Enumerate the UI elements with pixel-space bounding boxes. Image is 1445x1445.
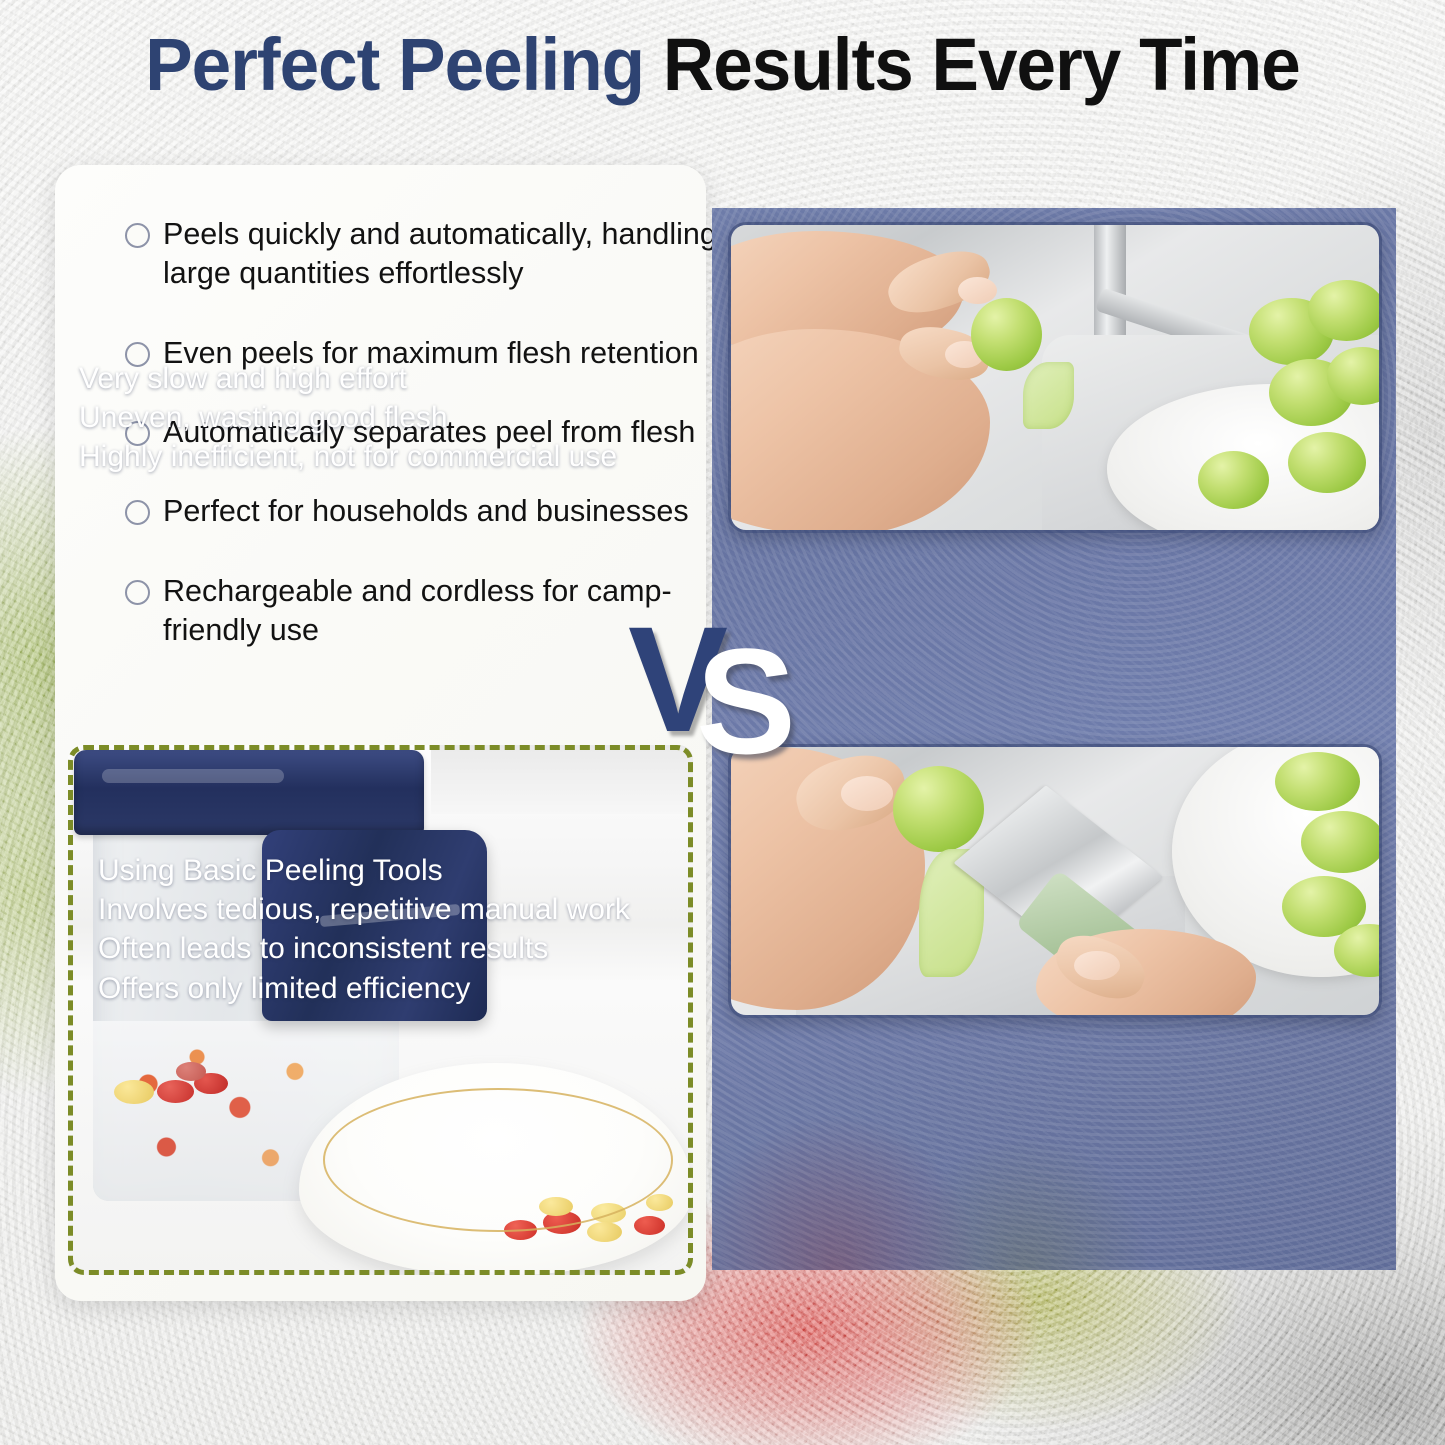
peeled-red-tomato bbox=[157, 1080, 194, 1103]
drawback-line: Often leads to inconsistent results bbox=[98, 930, 630, 967]
benefit-text: Perfect for households and businesses bbox=[163, 492, 689, 531]
circle-bullet-icon bbox=[125, 500, 150, 525]
peeled-red-tomato bbox=[543, 1211, 580, 1233]
basic-tools-drawbacks: Using Basic Peeling Tools Involves tedio… bbox=[98, 852, 630, 1009]
circle-bullet-icon bbox=[125, 580, 150, 605]
peeled-yellow-tomato bbox=[114, 1080, 154, 1104]
grape bbox=[1308, 280, 1382, 341]
drawback-line: Using Basic Peeling Tools bbox=[98, 852, 630, 889]
title-plain-text: Results Every Time bbox=[663, 23, 1300, 106]
peeled-yellow-tomato bbox=[591, 1203, 626, 1223]
drawback-line: Involves tedious, repetitive manual work bbox=[98, 891, 630, 928]
hand-peeling-photo bbox=[728, 222, 1382, 533]
benefit-text: Peels quickly and automatically, handlin… bbox=[163, 215, 741, 294]
title-accent-text: Perfect Peeling bbox=[145, 23, 663, 106]
grape bbox=[1301, 811, 1382, 873]
grape-being-peeled bbox=[971, 298, 1042, 371]
drawback-line: Offers only limited efficiency bbox=[98, 970, 630, 1007]
versus-s-letter: S bbox=[696, 626, 790, 776]
grape bbox=[1288, 432, 1366, 493]
fingernail bbox=[958, 277, 997, 304]
drawback-line: Highly inefficient, not for commercial u… bbox=[79, 438, 617, 475]
peeled-yellow-tomato bbox=[539, 1197, 572, 1216]
circle-bullet-icon bbox=[125, 223, 150, 248]
list-item: Perfect for households and businesses bbox=[125, 492, 745, 531]
grape bbox=[1198, 451, 1269, 509]
peeled-red-tomato bbox=[634, 1216, 666, 1235]
peeled-yellow-tomato bbox=[646, 1194, 674, 1211]
grape bbox=[1275, 752, 1359, 811]
peeled-red-tomato bbox=[176, 1062, 207, 1081]
panel-bottom-color-wash bbox=[712, 951, 1396, 1270]
peeled-yellow-tomato bbox=[587, 1222, 622, 1242]
drawback-line: Uneven, wasting good flesh bbox=[79, 399, 617, 436]
peeler-navy-lid bbox=[74, 750, 424, 835]
product-photo bbox=[68, 745, 693, 1275]
list-item: Peels quickly and automatically, handlin… bbox=[125, 215, 745, 294]
grape-being-peeled bbox=[893, 766, 984, 852]
benefits-card: Peels quickly and automatically, handlin… bbox=[55, 165, 706, 1301]
drawback-line: Very slow and high effort bbox=[79, 360, 617, 397]
comparison-panel bbox=[712, 208, 1396, 1270]
faucet-spout bbox=[1094, 222, 1126, 347]
infographic-canvas: Perfect Peeling Results Every Time Peels… bbox=[0, 0, 1445, 1445]
manual-peeling-drawbacks: Very slow and high effort Uneven, wastin… bbox=[79, 360, 617, 478]
page-title: Perfect Peeling Results Every Time bbox=[29, 28, 1416, 102]
product-photo-frame bbox=[68, 745, 693, 1275]
peeled-red-tomato bbox=[504, 1220, 537, 1240]
versus-badge: V S bbox=[628, 604, 808, 764]
